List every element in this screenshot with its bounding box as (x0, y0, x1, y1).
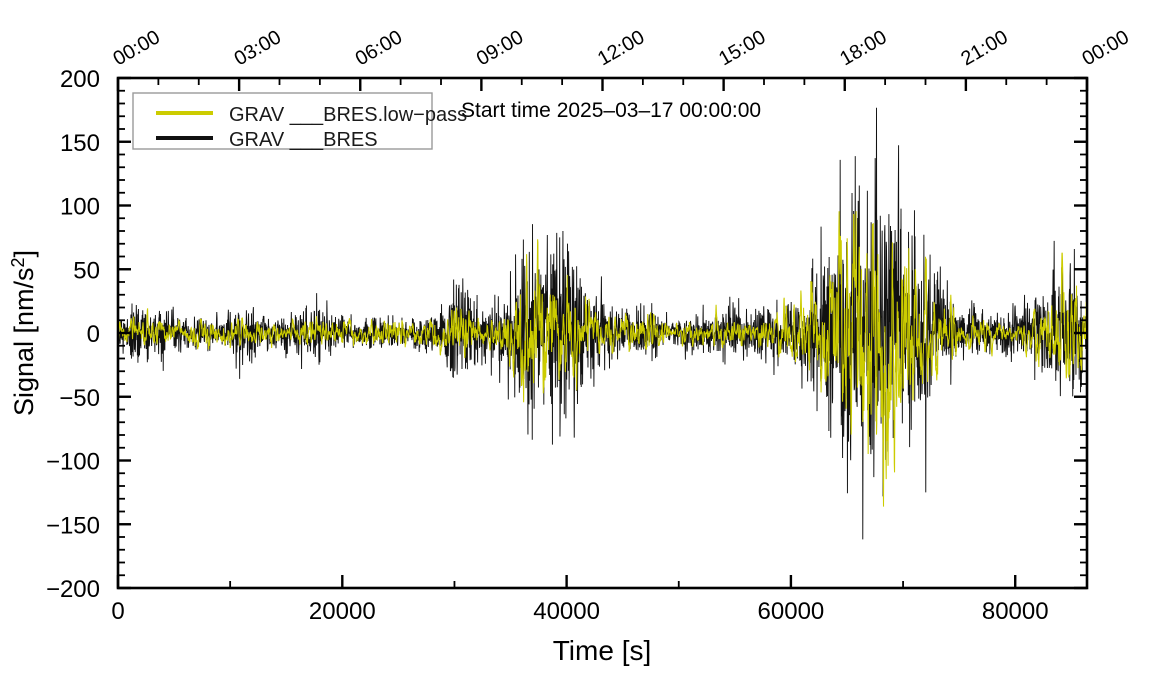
top-tick-label: 15:00 (715, 26, 769, 70)
legend-label-raw: GRAV ___BRES (229, 129, 378, 151)
top-time-axis-ticks (118, 78, 1087, 91)
top-tick-label: 06:00 (352, 26, 406, 70)
trace-grav-bres-lowpass (118, 211, 1087, 507)
top-tick-label: 00:00 (1079, 26, 1133, 70)
legend-label-lowpass: GRAV ___BRES.low−pass (229, 104, 467, 126)
seismogram-figure: −200−150−100−50050100150200 020000400006… (0, 0, 1151, 700)
legend: GRAV ___BRES.low−pass GRAV ___BRES (133, 93, 467, 151)
y-axis-tick-labels: −200−150−100−50050100150200 (46, 66, 100, 603)
top-tick-label: 09:00 (473, 26, 527, 70)
top-tick-label: 18:00 (836, 26, 890, 70)
top-tick-label: 21:00 (957, 26, 1011, 70)
x-tick-label: 60000 (758, 598, 825, 625)
data-traces (118, 108, 1087, 540)
x-tick-label: 80000 (982, 598, 1049, 625)
y-tick-label: −200 (46, 576, 100, 603)
top-time-axis-labels: 00:0003:0006:0009:0012:0015:0018:0021:00… (110, 26, 1133, 70)
trace-grav-bres (118, 108, 1087, 540)
y-axis-title: Signal [nm/s2] (8, 250, 39, 416)
y-axis-title-exponent: 2 (8, 257, 28, 267)
x-tick-label: 0 (111, 598, 124, 625)
chart-canvas: −200−150−100−50050100150200 020000400006… (0, 0, 1151, 700)
x-axis-title: Time [s] (553, 635, 652, 666)
y-tick-label: 100 (60, 194, 100, 221)
y-tick-label: −50 (59, 385, 100, 412)
x-axis-tick-labels: 020000400006000080000 (111, 598, 1048, 625)
y-axis-ticks (118, 78, 131, 588)
y-axis-title-close: ] (9, 250, 39, 258)
right-axis-ticks (1074, 78, 1087, 588)
top-tick-label: 00:00 (110, 26, 164, 70)
y-axis-title-main: Signal [nm/s (9, 267, 39, 416)
x-tick-label: 20000 (309, 598, 376, 625)
y-tick-label: 200 (60, 66, 100, 93)
start-time-annotation: Start time 2025–03–17 00:00:00 (461, 99, 761, 122)
y-tick-label: −100 (46, 449, 100, 476)
top-tick-label: 12:00 (594, 26, 648, 70)
y-tick-label: 0 (87, 321, 100, 348)
y-tick-label: 150 (60, 130, 100, 157)
top-tick-label: 03:00 (231, 26, 285, 70)
x-tick-label: 40000 (533, 598, 600, 625)
x-axis-ticks (118, 575, 1015, 588)
y-tick-label: −150 (46, 512, 100, 539)
y-tick-label: 50 (73, 257, 100, 284)
